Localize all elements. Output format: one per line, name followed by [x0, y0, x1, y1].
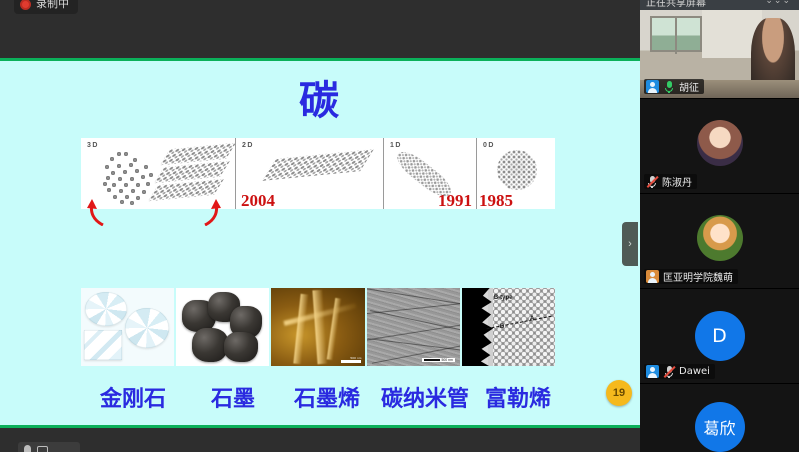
- page-title: 碳: [0, 68, 640, 126]
- schematic-cell-3d: 3D: [81, 138, 236, 209]
- scale-bar-label: 500 nm: [442, 358, 453, 362]
- microphone-muted-icon: [646, 175, 658, 188]
- schematic-cell-2d: 2D 2004: [236, 138, 384, 209]
- participant-tile[interactable]: 葛欣: [640, 384, 799, 452]
- panel-collapse-handle[interactable]: ›: [622, 222, 638, 266]
- caption-nanotube: 碳纳米管: [373, 381, 477, 413]
- dimension-label-3d: 3D: [87, 142, 99, 149]
- panel-header: 正在共享屏幕 ⌄⌄⌄: [640, 0, 799, 10]
- carbon-allotrope-schematic-strip: 3D 2: [81, 138, 555, 209]
- recording-indicator[interactable]: 录制中: [14, 0, 78, 14]
- diamond-photo: [81, 288, 174, 366]
- user-icon: [646, 80, 659, 93]
- dimension-label-0d: 0D: [483, 142, 495, 149]
- panel-header-title: 正在共享屏幕: [646, 0, 706, 9]
- scale-bar: 500 nm: [422, 358, 455, 362]
- diamond-lattice-graphic: [97, 152, 153, 204]
- avatar: [697, 215, 743, 261]
- avatar: 葛欣: [695, 402, 745, 452]
- participant-name: 匡亚明学院魏萌: [663, 269, 733, 284]
- participant-tile[interactable]: D Dawei: [640, 289, 799, 383]
- participant-name: 胡征: [679, 79, 699, 94]
- meeting-controls-toolbar[interactable]: [18, 442, 80, 452]
- video-camera-icon[interactable]: [37, 446, 48, 452]
- participant-name: 陈淑丹: [662, 174, 692, 189]
- scale-bar-label: 500 nm: [350, 356, 361, 360]
- participant-tile[interactable]: 胡征: [640, 10, 799, 98]
- microphone-muted-icon: [663, 365, 675, 378]
- participant-tile[interactable]: 匡亚明学院魏萌: [640, 194, 799, 288]
- allotrope-caption-row: 金刚石 石墨 石墨烯 碳纳米管 富勒烯: [81, 381, 559, 413]
- chevron-right-icon: ›: [628, 238, 632, 250]
- meeting-top-bar: 录制中: [0, 0, 640, 58]
- caption-fullerene: 富勒烯: [477, 381, 559, 413]
- year-label-2004: 2004: [241, 191, 275, 209]
- caption-graphene: 石墨烯: [281, 381, 373, 413]
- meeting-bottom-bar: [0, 428, 640, 452]
- graphene-afm-image: 500 nm: [271, 288, 364, 366]
- participant-nametag: 陈淑丹: [644, 174, 697, 189]
- caption-graphite: 石墨: [185, 381, 281, 413]
- dimension-label-1d: 1D: [390, 142, 402, 149]
- avatar: [697, 120, 743, 166]
- stm-label-a: A: [530, 316, 534, 322]
- participant-name: Dawei: [679, 366, 710, 377]
- participant-tile[interactable]: 陈淑丹: [640, 99, 799, 193]
- chevron-down-icon: ⌄⌄⌄: [765, 0, 791, 6]
- shared-screen-slide[interactable]: 碳 3D: [0, 58, 640, 428]
- fullerene-graphic: [497, 150, 537, 190]
- participant-nametag: Dawei: [644, 364, 715, 379]
- dimension-label-2d: 2D: [242, 142, 254, 149]
- slide-page-badge: 19: [606, 380, 632, 406]
- year-label-1985: 1985: [479, 191, 513, 209]
- allotrope-photo-row: 500 nm 500 nm B-type B A: [81, 288, 555, 366]
- microphone-icon[interactable]: [24, 445, 31, 452]
- user-icon: [646, 365, 659, 378]
- avatar: D: [695, 311, 745, 361]
- fullerene-stm-image: B-type B A: [462, 288, 555, 366]
- recording-label: 录制中: [36, 0, 69, 10]
- stm-label-b: B: [500, 324, 504, 330]
- record-dot-icon: [20, 0, 31, 10]
- year-label-1991: 1991: [438, 191, 472, 209]
- microphone-on-icon: [663, 80, 675, 93]
- graphite-photo: [176, 288, 269, 366]
- carbon-nanotube-sem-image: 500 nm: [367, 288, 460, 366]
- participant-nametag: 胡征: [644, 79, 704, 94]
- participant-nametag: 匡亚明学院魏萌: [644, 269, 738, 284]
- graphene-sheet-graphic: [262, 149, 374, 181]
- schematic-cell-1d: 1D 1991: [384, 138, 477, 209]
- zoom-meeting-window: 录制中 碳 3D: [0, 0, 799, 452]
- user-icon: [646, 270, 659, 283]
- slide-top-accent-bar: [0, 58, 640, 61]
- stm-label-b-type: B-type: [494, 295, 513, 301]
- scale-bar: [341, 360, 361, 363]
- participant-video-panel: 正在共享屏幕 ⌄⌄⌄ 胡征: [640, 0, 799, 452]
- caption-diamond: 金刚石: [81, 381, 185, 413]
- schematic-cell-0d: 0D 1985: [477, 138, 554, 209]
